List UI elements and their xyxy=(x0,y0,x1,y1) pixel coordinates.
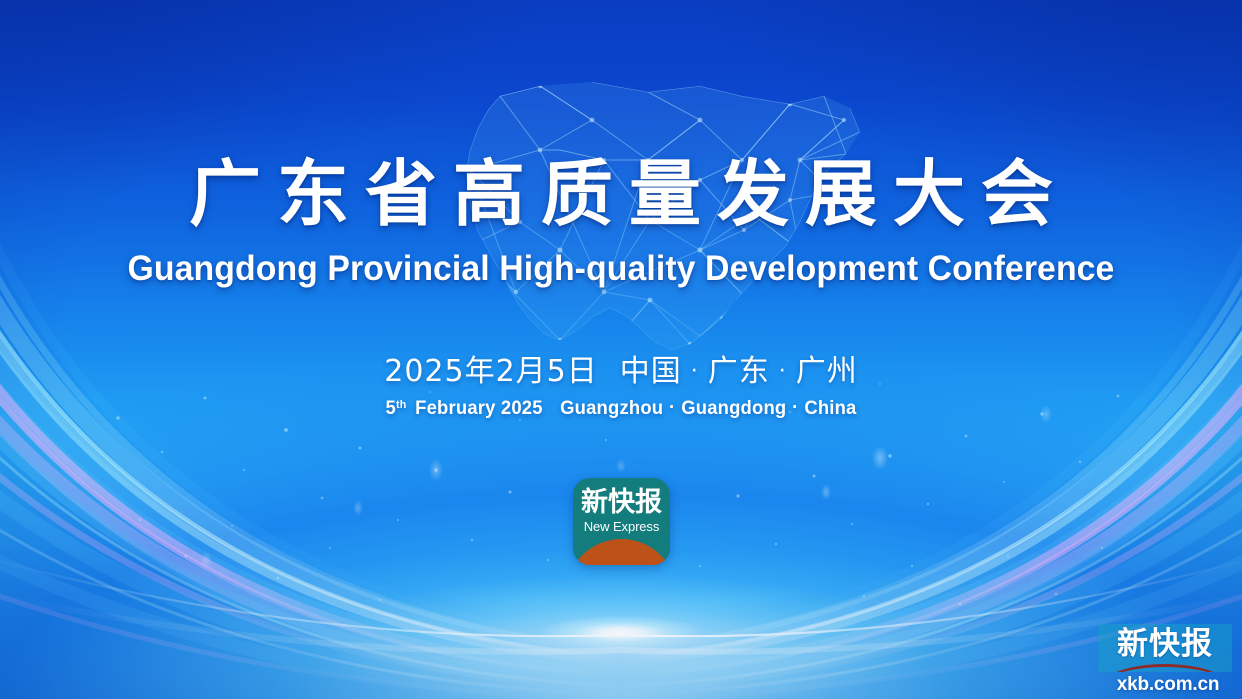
watermark-name-chinese: 新快报 xyxy=(1098,628,1232,661)
poster-stage: 广东省高质量发展大会 Guangdong Provincial High-qua… xyxy=(0,0,1242,699)
event-date-chinese: 2025年2月5日 xyxy=(384,354,598,389)
location-city-chinese: 广州 xyxy=(796,354,858,389)
location-province-english: Guangdong xyxy=(681,398,786,419)
new-express-logo[interactable]: 新快报 New Express xyxy=(573,478,670,565)
location-country-chinese: 中国 xyxy=(620,354,682,389)
event-date-location-chinese: 2025年2月5日中国·广东·广州 xyxy=(0,357,1242,387)
logo-arc-shape xyxy=(573,539,670,565)
logo-name-english: New Express xyxy=(573,520,670,533)
watermark-arc-shape xyxy=(1100,664,1230,672)
event-date-location-english: 5thFebruary 2025Guangzhou·Guangdong·Chin… xyxy=(19,398,1224,418)
location-city-english: Guangzhou xyxy=(560,398,663,419)
separator-dot: · xyxy=(663,398,681,417)
separator-dot: · xyxy=(770,361,796,383)
poster-content: 广东省高质量发展大会 Guangdong Provincial High-qua… xyxy=(0,0,1242,699)
logo-name-chinese: 新快报 xyxy=(573,489,670,516)
location-province-chinese: 广东 xyxy=(708,354,770,389)
separator-dot: · xyxy=(786,398,804,417)
event-day-english: 5 xyxy=(386,398,396,419)
watermark-url: xkb.com.cn xyxy=(1098,673,1238,697)
watermark-badge: 新快报 xyxy=(1098,624,1232,672)
page-title-english: Guangdong Provincial High-quality Develo… xyxy=(22,249,1221,289)
page-title-chinese: 广东省高质量发展大会 xyxy=(0,158,1242,230)
location-country-english: China xyxy=(804,398,856,419)
watermark: 新快报 xkb.com.cn xyxy=(1098,624,1238,697)
separator-dot: · xyxy=(682,361,708,383)
ordinal-suffix: th xyxy=(396,399,406,411)
event-month-year-english: February 2025 xyxy=(415,398,543,419)
